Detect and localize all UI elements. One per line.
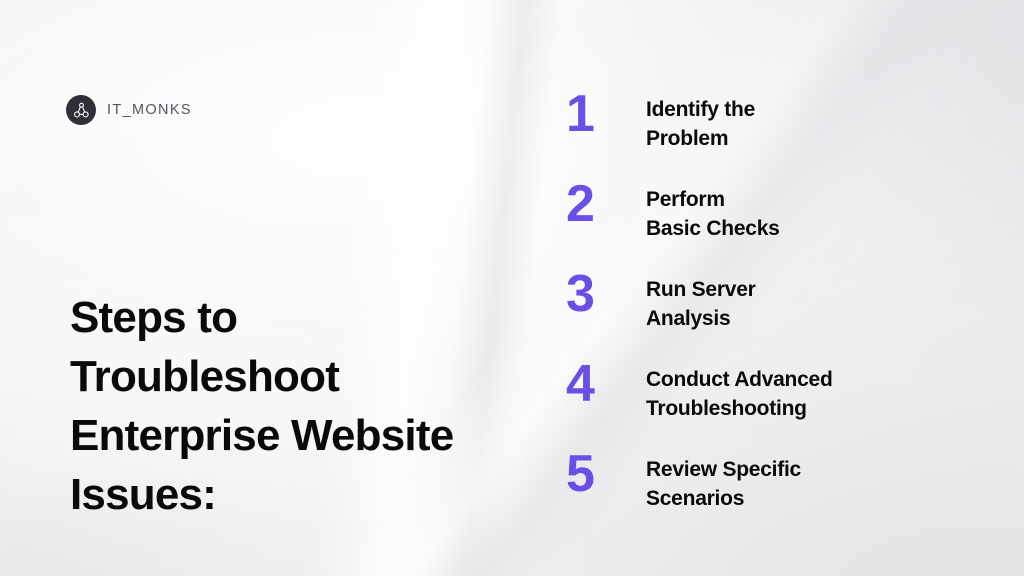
- step-number: 5: [566, 448, 646, 501]
- step-label: Conduct Advanced Troubleshooting: [646, 362, 833, 423]
- steps-list: 1 Identify the Problem 2 Perform Basic C…: [566, 92, 986, 542]
- brand-name: IT_MONKS: [107, 102, 192, 118]
- step-number: 3: [566, 268, 646, 321]
- step-label: Perform Basic Checks: [646, 182, 780, 243]
- step-number: 2: [566, 178, 646, 231]
- list-item: 3 Run Server Analysis: [566, 272, 986, 362]
- list-item: 5 Review Specific Scenarios: [566, 452, 986, 542]
- list-item: 1 Identify the Problem: [566, 92, 986, 182]
- step-label: Review Specific Scenarios: [646, 452, 801, 513]
- molecule-node-icon: [66, 95, 96, 125]
- page-title: Steps to Troubleshoot Enterprise Website…: [70, 288, 500, 524]
- step-label: Identify the Problem: [646, 92, 755, 153]
- list-item: 2 Perform Basic Checks: [566, 182, 986, 272]
- brand-logo[interactable]: IT_MONKS: [66, 95, 192, 125]
- slide-canvas: IT_MONKS Steps to Troubleshoot Enterpris…: [0, 0, 1024, 576]
- list-item: 4 Conduct Advanced Troubleshooting: [566, 362, 986, 452]
- step-label: Run Server Analysis: [646, 272, 756, 333]
- step-number: 1: [566, 88, 646, 141]
- step-number: 4: [566, 358, 646, 411]
